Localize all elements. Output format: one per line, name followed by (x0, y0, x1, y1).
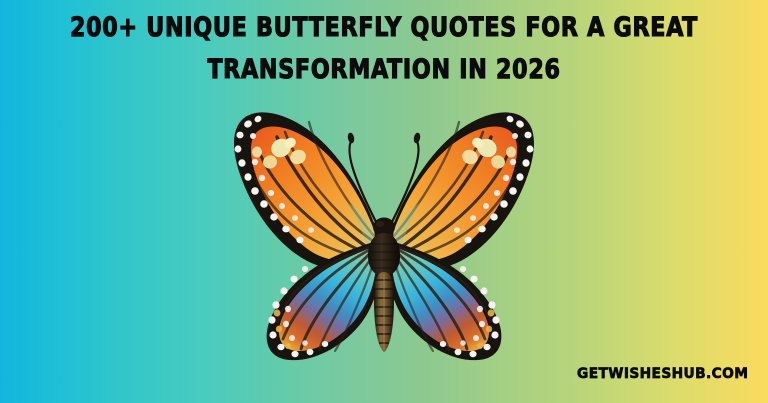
butterfly-illustration (224, 100, 544, 362)
butterfly-left-side (234, 112, 380, 360)
right-antenna-club (413, 132, 421, 144)
butterfly-head-highlight (376, 221, 384, 227)
left-antenna-club (347, 132, 355, 144)
featured-image-canvas: 200+ Unique Butterfly Quotes For A Great… (0, 0, 768, 403)
site-watermark: getwisheshub.com (577, 366, 748, 382)
butterfly-thorax (368, 233, 400, 276)
butterfly-right-side (388, 112, 534, 360)
